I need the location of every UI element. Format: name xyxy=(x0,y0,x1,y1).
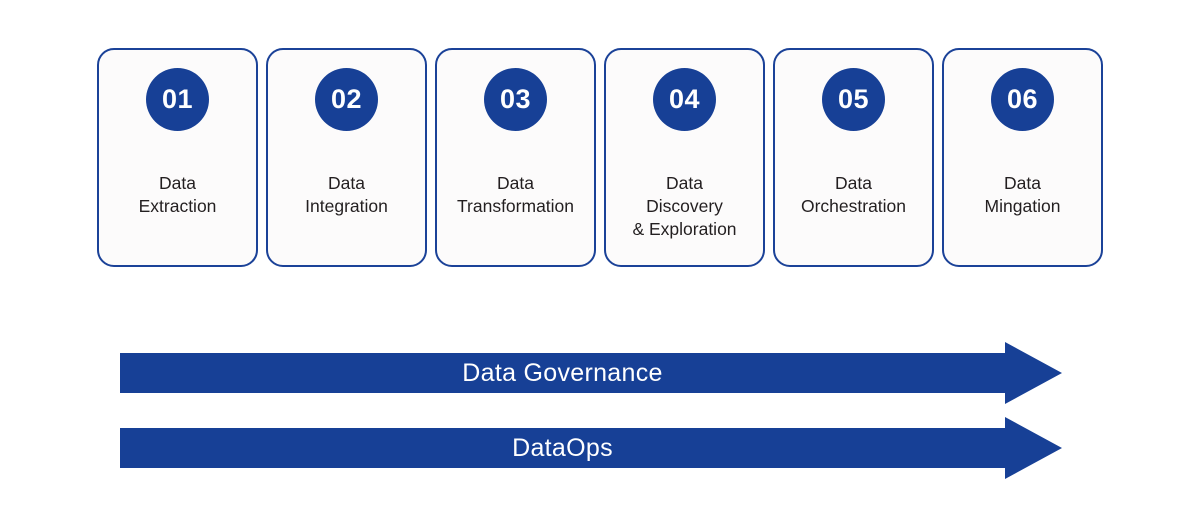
right-arrow-icon xyxy=(120,342,1062,404)
step-number-badge-05: 05 xyxy=(822,68,885,131)
step-label-06: Data Mingation xyxy=(944,172,1101,218)
step-card-02[interactable]: 02 Data Integration xyxy=(266,48,427,267)
step-card-06[interactable]: 06 Data Mingation xyxy=(942,48,1103,267)
step-card-05[interactable]: 05 Data Orchestration xyxy=(773,48,934,267)
step-number-badge-04: 04 xyxy=(653,68,716,131)
step-number-badge-02: 02 xyxy=(315,68,378,131)
step-card-03[interactable]: 03 Data Transformation xyxy=(435,48,596,267)
dataops-arrow[interactable]: DataOps xyxy=(120,417,1062,479)
step-card-row: 01 Data Extraction 02 Data Integration 0… xyxy=(97,48,1103,267)
step-card-04[interactable]: 04 Data Discovery & Exploration xyxy=(604,48,765,267)
step-label-03: Data Transformation xyxy=(437,172,594,218)
step-label-05: Data Orchestration xyxy=(775,172,932,218)
step-label-02: Data Integration xyxy=(268,172,425,218)
right-arrow-icon xyxy=(120,417,1062,479)
step-number-badge-06: 06 xyxy=(991,68,1054,131)
data-governance-arrow[interactable]: Data Governance xyxy=(120,342,1062,404)
process-diagram: 01 Data Extraction 02 Data Integration 0… xyxy=(0,0,1200,529)
step-card-01[interactable]: 01 Data Extraction xyxy=(97,48,258,267)
step-label-01: Data Extraction xyxy=(99,172,256,218)
step-number-badge-01: 01 xyxy=(146,68,209,131)
step-number-badge-03: 03 xyxy=(484,68,547,131)
step-label-04: Data Discovery & Exploration xyxy=(606,172,763,241)
